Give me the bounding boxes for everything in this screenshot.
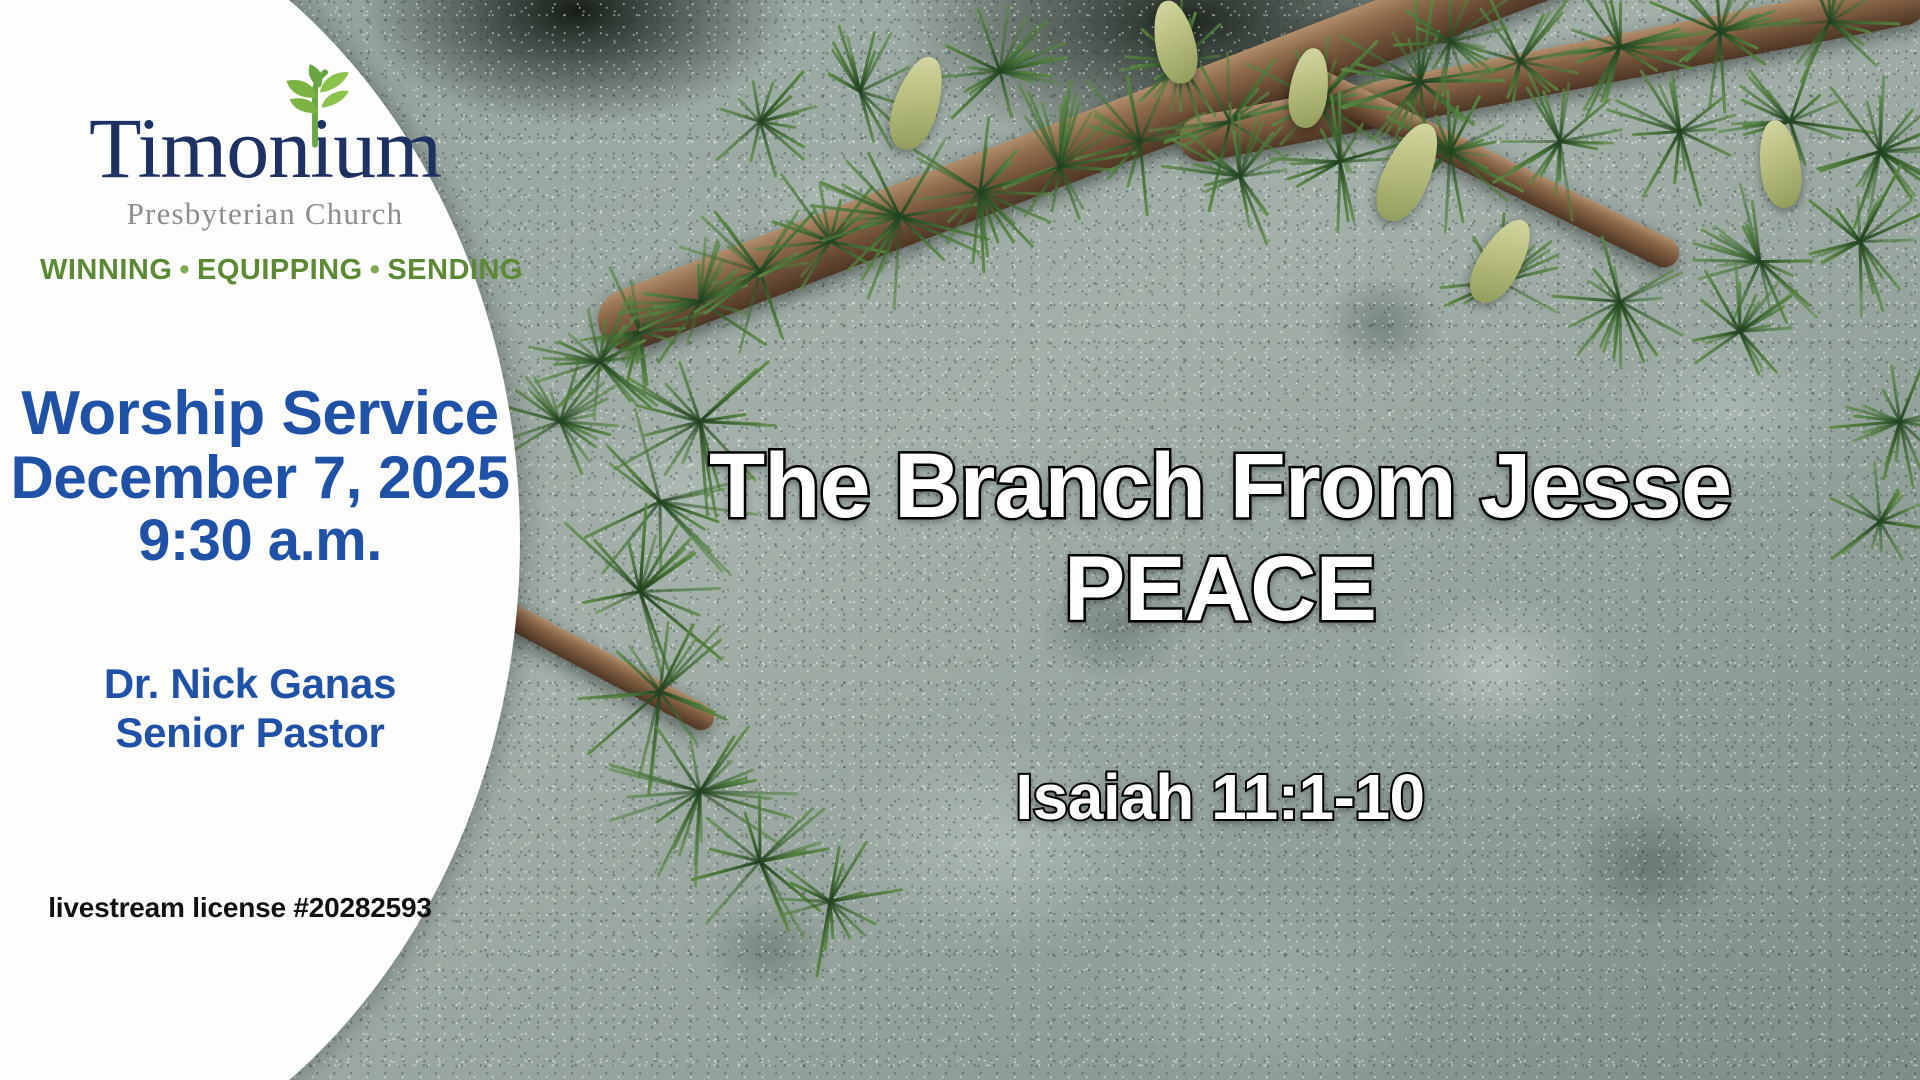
service-heading: Worship Service xyxy=(0,382,520,446)
service-info: Worship Service December 7, 2025 9:30 a.… xyxy=(0,382,520,573)
logo-tagline: WINNING•EQUIPPING•SENDING xyxy=(40,254,490,287)
logo-subtitle: Presbyterian Church xyxy=(40,196,490,232)
church-logo: Timonium Presbyterian Church WINNING•EQU… xyxy=(40,108,490,287)
service-date: December 7, 2025 xyxy=(0,446,520,510)
speaker-name: Dr. Nick Ganas xyxy=(0,660,500,709)
logo-wordmark: Timonium xyxy=(40,108,490,190)
tagline-separator-icon: • xyxy=(172,254,197,286)
sprout-icon xyxy=(273,64,357,148)
speaker-role: Senior Pastor xyxy=(0,709,500,758)
tagline-equipping: EQUIPPING xyxy=(197,254,363,286)
slide-canvas: Timonium Presbyterian Church WINNING•EQU… xyxy=(0,0,1920,1080)
speaker-block: Dr. Nick Ganas Senior Pastor xyxy=(0,660,500,757)
tagline-sending: SENDING xyxy=(387,254,523,286)
service-time: 9:30 a.m. xyxy=(0,510,520,573)
logo-wordmark-text: Timonium xyxy=(89,100,441,196)
livestream-license: livestream license #20282593 xyxy=(0,892,480,924)
tagline-separator-icon: • xyxy=(363,254,388,286)
white-info-panel: Timonium Presbyterian Church WINNING•EQU… xyxy=(0,0,520,1080)
tagline-winning: WINNING xyxy=(40,254,172,286)
